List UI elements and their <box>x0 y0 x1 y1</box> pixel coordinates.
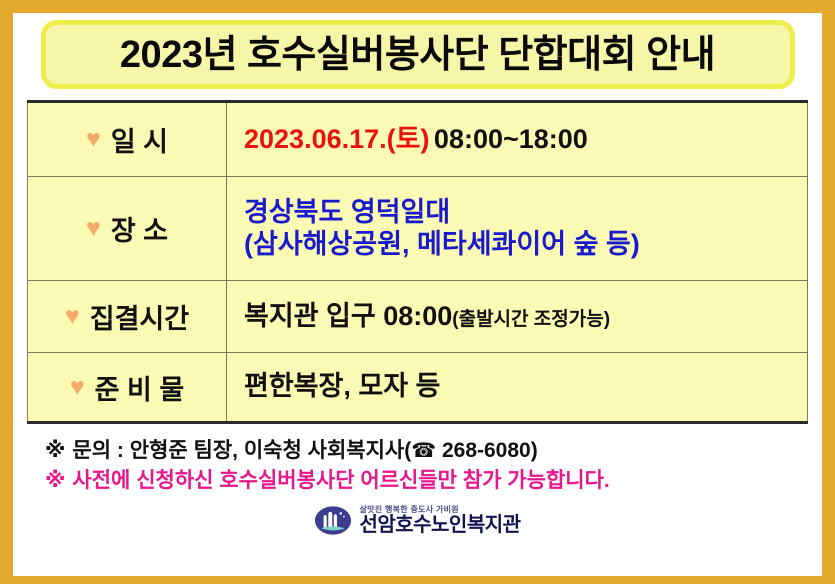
logo-organization-name: 선암호수노인복지관 <box>359 515 520 535</box>
reference-mark-icon: ※ <box>45 439 65 462</box>
note-line-eligibility: ※사전에 신청하신 호수실버봉사단 어르신들만 참가 가능합니다. <box>45 466 808 496</box>
label-text-datetime: 일 시 <box>111 120 168 159</box>
logo-tagline: 살맛진 행복한 중도사 가비원 <box>359 506 520 514</box>
table-row: ♥ 장 소 경상북도 영덕일대 (삼사해상공원, 메타세콰이어 숲 등) <box>28 177 808 281</box>
notes-section: ※문의 : 안형준 팀장, 이숙청 사회복지사(☎ 268-6080) ※사전에… <box>45 436 808 497</box>
row-value-cell-items: 편한복장, 모자 등 <box>227 353 808 423</box>
heart-icon: ♥ <box>86 216 101 241</box>
label-inner: ♥ 집결시간 <box>65 297 189 336</box>
title-banner: 2023년 호수실버봉사단 단합대회 안내 <box>41 20 795 89</box>
table-row: ♥ 일 시 2023.06.17.(토) 08:00~18:00 <box>28 102 808 177</box>
label-text-items: 준 비 물 <box>95 368 185 407</box>
note-eligibility-text: 사전에 신청하신 호수실버봉사단 어르신들만 참가 가능합니다. <box>72 469 609 492</box>
row-label-cell-items: ♥ 준 비 물 <box>28 353 227 423</box>
organization-logo: 살맛진 행복한 중도사 가비원 선암호수노인복지관 <box>27 504 808 537</box>
page-title: 2023년 호수실버봉사단 단합대회 안내 <box>120 36 715 74</box>
heart-icon: ♥ <box>70 375 85 400</box>
label-text-gathering: 집결시간 <box>90 297 189 336</box>
note-contact-text: 문의 : 안형준 팀장, 이숙청 사회복지사( <box>72 439 411 462</box>
note-line-contact: ※문의 : 안형준 팀장, 이숙청 사회복지사(☎ 268-6080) <box>45 436 808 466</box>
label-inner: ♥ 일 시 <box>86 120 168 159</box>
value-place-line2: (삼사해상공원, 메타세콰이어 숲 등) <box>244 229 807 260</box>
label-text-place: 장 소 <box>111 209 168 248</box>
reference-mark-icon: ※ <box>45 469 65 492</box>
row-value-cell-datetime: 2023.06.17.(토) 08:00~18:00 <box>227 102 808 177</box>
heart-icon: ♥ <box>65 304 80 329</box>
label-inner: ♥ 준 비 물 <box>70 368 184 407</box>
row-label-cell-datetime: ♥ 일 시 <box>28 102 227 177</box>
row-value-cell-place: 경상북도 영덕일대 (삼사해상공원, 메타세콰이어 숲 등) <box>227 177 808 281</box>
welfare-center-emblem-icon <box>314 504 352 537</box>
info-table: ♥ 일 시 2023.06.17.(토) 08:00~18:00 ♥ 장 <box>27 100 808 424</box>
row-value-cell-gathering: 복지관 입구 08:00(출발시간 조정가능) <box>227 281 808 353</box>
row-label-cell-place: ♥ 장 소 <box>28 177 227 281</box>
logo-text: 살맛진 행복한 중도사 가비원 선암호수노인복지관 <box>359 506 520 535</box>
heart-icon: ♥ <box>86 127 101 152</box>
poster-frame: 2023년 호수실버봉사단 단합대회 안내 ♥ 일 시 2023.06.17.(… <box>0 0 835 584</box>
row-label-cell-gathering: ♥ 집결시간 <box>28 281 227 353</box>
value-date: 2023.06.17.(토) <box>244 124 429 154</box>
note-contact-phone: 268-6080) <box>436 439 538 462</box>
table-row: ♥ 준 비 물 편한복장, 모자 등 <box>28 353 808 423</box>
label-inner: ♥ 장 소 <box>86 209 168 248</box>
value-gathering-main: 복지관 입구 08:00 <box>244 301 452 331</box>
value-time: 08:00~18:00 <box>434 124 588 154</box>
value-place-line1: 경상북도 영덕일대 <box>244 197 807 228</box>
value-items: 편한복장, 모자 등 <box>244 371 440 401</box>
table-row: ♥ 집결시간 복지관 입구 08:00(출발시간 조정가능) <box>28 281 808 353</box>
poster-inner: 2023년 호수실버봉사단 단합대회 안내 ♥ 일 시 2023.06.17.(… <box>13 20 822 576</box>
value-gathering-note: (출발시간 조정가능) <box>452 309 610 330</box>
telephone-icon: ☎ <box>411 440 436 462</box>
